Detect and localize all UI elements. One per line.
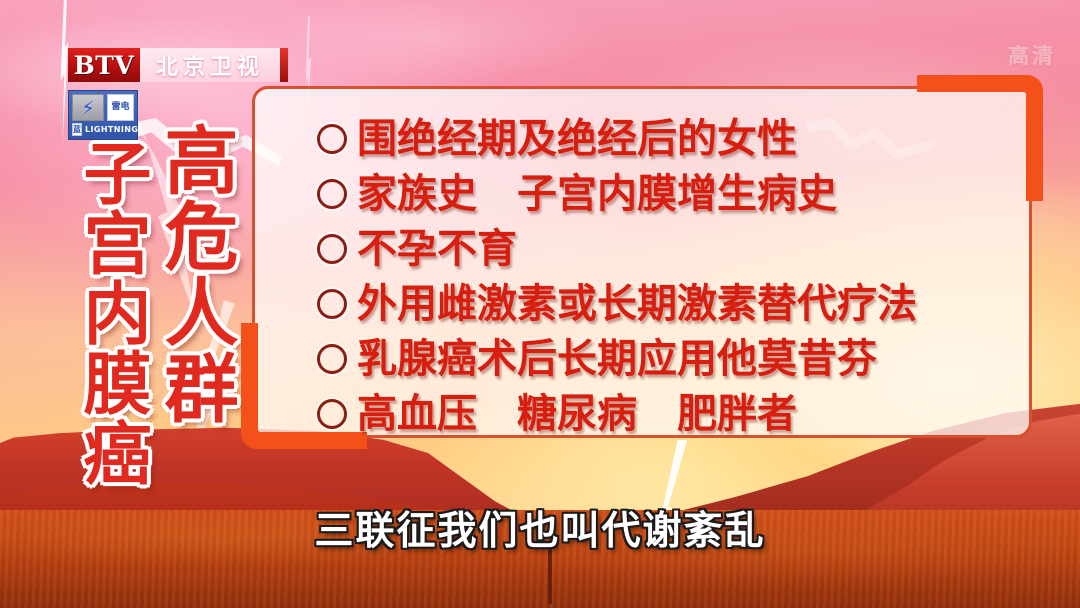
utility-pole [548, 548, 552, 604]
badge-level-label: 蓝 [72, 123, 82, 136]
list-item-text: 外用雌激素或长期激素替代疗法 [357, 284, 917, 324]
list-item: 家族史 子宫内膜增生病史 [317, 166, 1003, 221]
risk-factors-list: 围绝经期及绝经后的女性 家族史 子宫内膜增生病史 不孕不育 外用雌激素或长期激素… [255, 89, 1029, 435]
caption-subtitle: 三联征我们也叫代谢紊乱 [0, 500, 1080, 556]
list-item-text: 家族史 子宫内膜增生病史 [357, 174, 837, 214]
circle-bullet-icon [317, 234, 347, 264]
circle-bullet-icon [317, 124, 347, 154]
channel-logo-bug: BTV 北京卫视 [68, 48, 288, 82]
btv-logo-box: BTV [68, 48, 140, 82]
circle-bullet-icon [317, 399, 347, 429]
list-item-text: 乳腺癌术后长期应用他莫昔芬 [357, 339, 877, 379]
list-item: 乳腺癌术后长期应用他莫昔芬 [317, 331, 1003, 386]
badge-top-row: ⚡ 雷电 [72, 94, 134, 121]
channel-name-box: 北京卫视 [140, 48, 280, 82]
list-item-text: 高血压 糖尿病 肥胖者 [357, 394, 797, 434]
risk-factors-panel: 围绝经期及绝经后的女性 家族史 子宫内膜增生病史 不孕不育 外用雌激素或长期激素… [252, 86, 1032, 438]
vertical-title-topic: 高危人群 [142, 122, 249, 426]
list-item: 高血压 糖尿病 肥胖者 [317, 386, 1003, 441]
channel-name-text: 北京卫视 [156, 49, 264, 81]
list-item: 围绝经期及绝经后的女性 [317, 111, 1003, 166]
lightning-bolt-icon: ⚡ [72, 94, 104, 121]
hd-watermark: 高清 [1008, 40, 1056, 70]
circle-bullet-icon [317, 344, 347, 374]
list-item-text: 围绝经期及绝经后的女性 [357, 119, 797, 159]
broadcast-screen: 高清 BTV 北京卫视 ⚡ 雷电 蓝 LIGHTNING 子宫内膜癌 高危人群 … [0, 0, 1080, 608]
btv-logo-text: BTV [74, 51, 135, 80]
list-item: 不孕不育 [317, 221, 1003, 276]
logo-accent-bar [280, 48, 288, 82]
circle-bullet-icon [317, 289, 347, 319]
list-item: 外用雌激素或长期激素替代疗法 [317, 276, 1003, 331]
badge-english-label: LIGHTNING [85, 125, 138, 134]
list-item-text: 不孕不育 [357, 229, 517, 269]
badge-type-label: 雷电 [107, 94, 134, 121]
circle-bullet-icon [317, 179, 347, 209]
lightning-alert-badge: ⚡ 雷电 蓝 LIGHTNING [68, 90, 138, 140]
badge-bottom-row: 蓝 LIGHTNING [72, 123, 134, 136]
